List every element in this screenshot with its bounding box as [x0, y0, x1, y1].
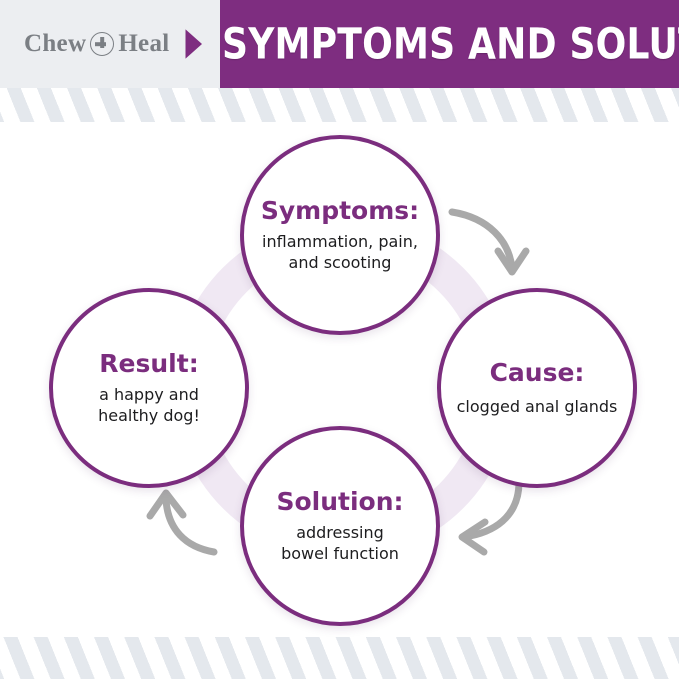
node-title-solution: Solution: — [276, 488, 403, 516]
cycle-node-result[interactable]: Result: a happy and healthy dog! — [49, 288, 249, 488]
logo-word-heal: Heal — [118, 30, 169, 58]
header-chevron-notch-icon — [184, 0, 220, 88]
arrow-symptoms-to-cause — [452, 212, 526, 272]
node-body-solution: addressing bowel function — [271, 522, 409, 564]
arrow-solution-to-result — [150, 493, 214, 552]
node-body-line: bowel function — [281, 543, 399, 564]
decorative-stripes-bottom — [0, 637, 679, 679]
node-body-line: a happy and — [98, 384, 200, 405]
stripe-pattern — [0, 637, 679, 679]
node-body-line: addressing — [281, 522, 399, 543]
cycle-node-cause[interactable]: Cause: clogged anal glands — [437, 288, 637, 488]
node-title-cause: Cause: — [490, 359, 585, 387]
infographic-page: SYMPTOMS AND SOLUTIONS Chew Heal — [0, 0, 679, 679]
logo-word-chew: Chew — [24, 30, 86, 58]
node-body-line: and scooting — [262, 252, 418, 273]
cycle-node-solution[interactable]: Solution: addressing bowel function — [240, 426, 440, 626]
cycle-node-symptoms[interactable]: Symptoms: inflammation, pain, and scooti… — [240, 135, 440, 335]
node-title-result: Result: — [99, 350, 198, 378]
node-title-symptoms: Symptoms: — [261, 197, 419, 225]
page-title: SYMPTOMS AND SOLUTIONS — [222, 22, 679, 66]
cycle-diagram: Symptoms: inflammation, pain, and scooti… — [0, 88, 679, 648]
node-body-line: inflammation, pain, — [262, 231, 418, 252]
brand-logo[interactable]: Chew Heal — [24, 30, 170, 58]
plus-in-circle-icon — [90, 32, 114, 56]
node-body-symptoms: inflammation, pain, and scooting — [252, 231, 428, 273]
node-body-line: healthy dog! — [98, 405, 200, 426]
node-body-line: clogged anal glands — [457, 396, 618, 417]
node-body-result: a happy and healthy dog! — [88, 384, 210, 426]
page-header: SYMPTOMS AND SOLUTIONS Chew Heal — [0, 0, 679, 88]
page-title-text: SYMPTOMS AND SOLUTIONS — [222, 19, 679, 68]
arrow-cause-to-solution — [462, 482, 519, 552]
node-body-cause: clogged anal glands — [455, 396, 620, 417]
